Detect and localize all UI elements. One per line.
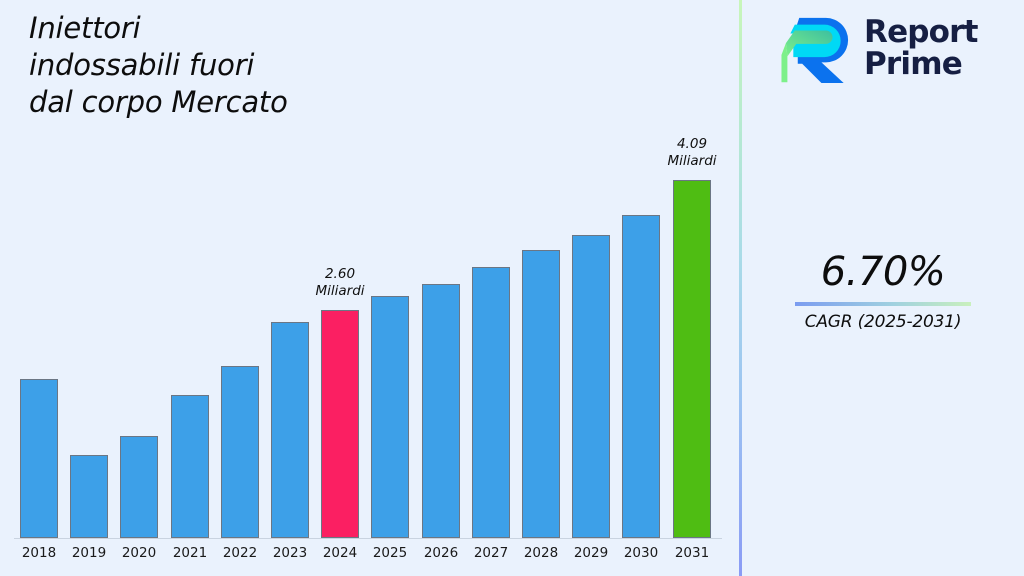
cagr-divider-rule <box>795 302 971 306</box>
bar-2027[interactable] <box>472 267 510 538</box>
bar-2019[interactable] <box>70 455 108 538</box>
bar-2031[interactable] <box>673 180 711 538</box>
bar-2025[interactable] <box>371 296 409 538</box>
brand-logo-text: Report Prime <box>864 17 978 80</box>
cagr-caption: CAGR (2025-2031) <box>742 312 1024 332</box>
x-axis-line <box>14 538 722 539</box>
bar-2021[interactable] <box>171 395 209 538</box>
brand-logo-line2: Prime <box>864 49 978 81</box>
bar-2028[interactable] <box>522 250 560 538</box>
bar-2029[interactable] <box>572 235 610 538</box>
bar-2024[interactable] <box>321 310 359 538</box>
report-prime-logo-mark-icon <box>780 12 854 86</box>
bar-2022[interactable] <box>221 366 259 538</box>
chart-slide: Iniettori indossabili fuori dal corpo Me… <box>0 0 1024 576</box>
cagr-block: 6.70% CAGR (2025-2031) <box>742 250 1024 332</box>
brand-logo: Report Prime <box>780 12 978 86</box>
bar-value-label-2024: 2.60 Miliardi <box>292 266 388 300</box>
bar-chart-plot: 2.60 Miliardi4.09 Miliardi 2018201920202… <box>0 0 739 576</box>
bar-2026[interactable] <box>422 284 460 538</box>
bar-2030[interactable] <box>622 215 660 538</box>
x-tick-2031: 2031 <box>657 545 727 561</box>
chart-panel: Iniettori indossabili fuori dal corpo Me… <box>0 0 739 576</box>
cagr-value: 6.70% <box>742 250 1024 294</box>
bar-2018[interactable] <box>20 379 58 538</box>
bar-value-label-2031: 4.09 Miliardi <box>644 136 740 170</box>
brand-logo-line1: Report <box>864 17 978 49</box>
bar-2020[interactable] <box>120 436 158 538</box>
side-panel: Report Prime 6.70% CAGR (2025-2031) <box>742 0 1024 576</box>
bar-2023[interactable] <box>271 322 309 538</box>
